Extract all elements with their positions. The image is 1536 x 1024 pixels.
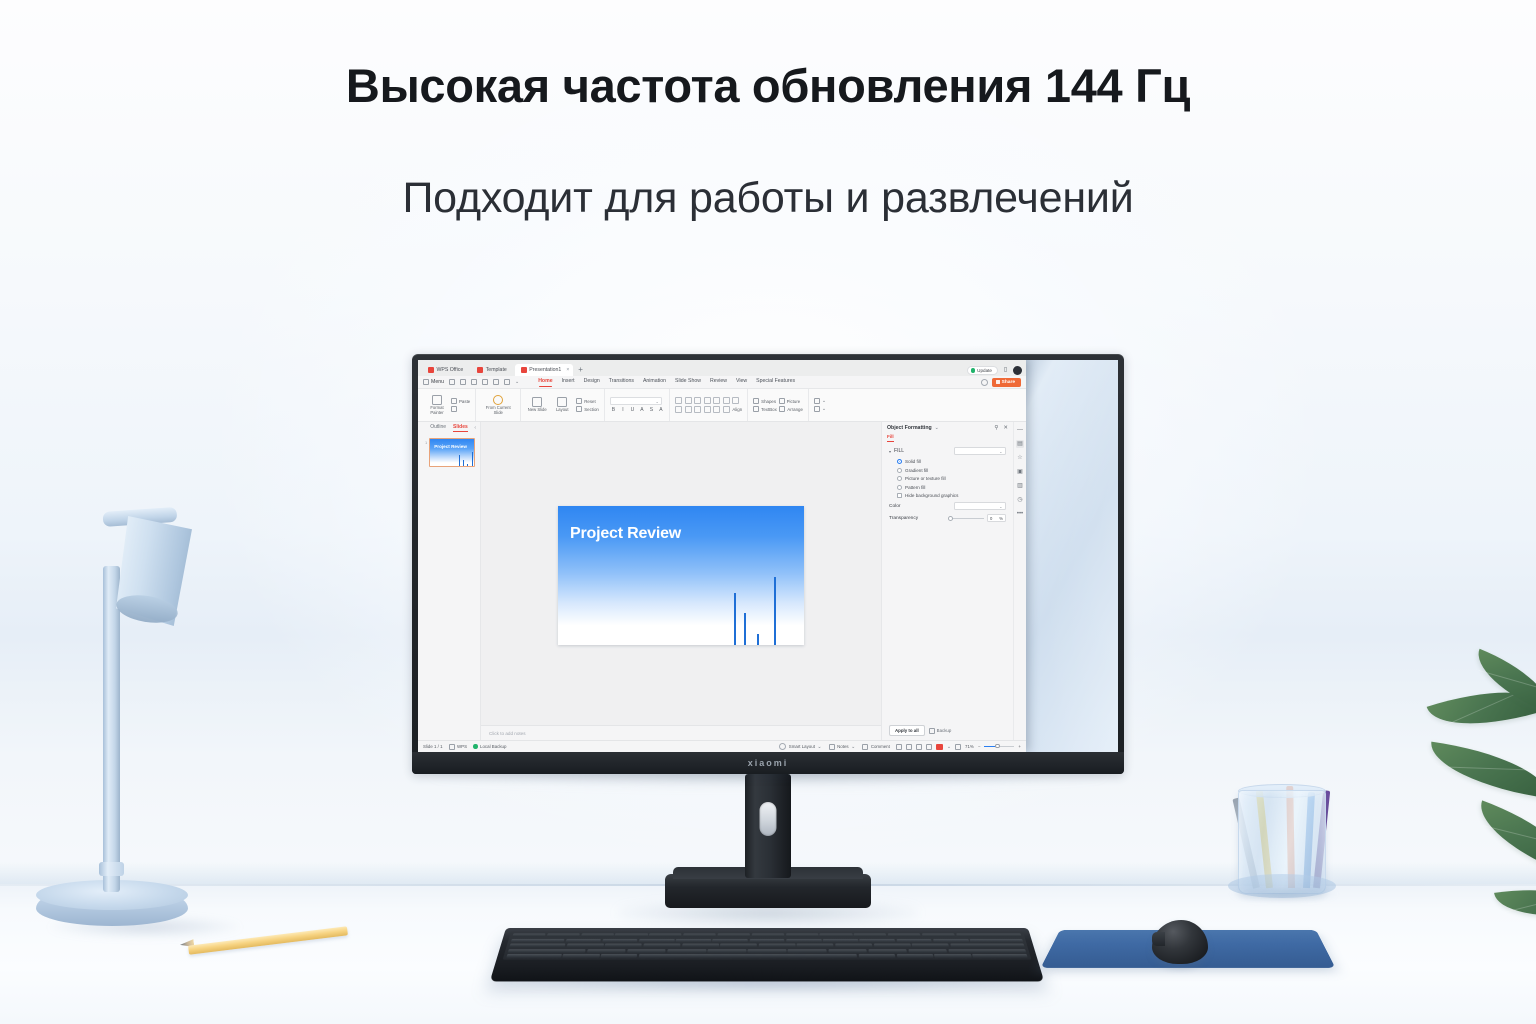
shape-outline-button[interactable]: ⌄ — [814, 406, 826, 412]
align-text-icon[interactable] — [713, 406, 720, 413]
radio-icon — [897, 468, 902, 473]
key — [788, 949, 827, 953]
keyboard-row — [506, 954, 1027, 958]
fillline-controls: ⌄ ⌄ — [814, 398, 826, 412]
key — [922, 933, 955, 937]
monitor-stand-neck — [745, 774, 791, 878]
panel-subtab-fill[interactable]: Fill — [887, 434, 894, 442]
notes-pane[interactable]: Click to add notes — [481, 725, 881, 740]
shape-fill-button[interactable]: ⌄ — [814, 398, 826, 404]
play-slide-icon — [493, 395, 503, 405]
fill-preset-select[interactable]: ⌄ — [954, 447, 1006, 455]
chevron-down-icon[interactable]: ⌄ — [935, 425, 939, 431]
checkbox-icon — [897, 493, 902, 498]
wps-status[interactable]: WPS — [449, 744, 468, 750]
tabstrip-right-controls: Update ▯ — [967, 366, 1022, 376]
drawing-controls: Shapes Picture TextBox — [753, 398, 803, 412]
align-button[interactable]: Align — [732, 407, 742, 412]
ribbon-tab-list: Home Insert Design Transitions Animation… — [538, 378, 795, 386]
thumb-bar-3 — [467, 464, 468, 466]
ribbon-tab-animation[interactable]: Animation — [643, 378, 666, 386]
panel-title: Object Formatting — [887, 425, 932, 431]
key — [509, 944, 565, 948]
color-select[interactable]: ⌄ — [954, 502, 1006, 510]
paste-button[interactable]: Paste — [451, 398, 470, 404]
option-gradient-fill[interactable]: Gradient fill — [897, 468, 1006, 473]
paragraph-controls: Align — [675, 397, 742, 413]
key — [888, 933, 921, 937]
textbox-label: TextBox — [761, 407, 777, 412]
help-icon[interactable] — [493, 379, 499, 385]
keyboard-row — [509, 944, 1024, 948]
slide-title-text[interactable]: Project Review — [570, 525, 681, 543]
transparency-stepper[interactable]: 0 % — [987, 514, 1006, 522]
numbering-icon[interactable] — [685, 397, 692, 404]
font-controls: ⌄ B I U A S A — [610, 397, 665, 413]
key — [547, 933, 580, 937]
panel-subtab-row: Fill — [882, 434, 1013, 442]
key — [506, 954, 562, 958]
key — [627, 949, 666, 953]
monitor-chin: xiaomi — [412, 752, 1124, 774]
slide-canvas-panel: Project Review Click to add notes — [481, 422, 881, 740]
chevron-down-icon: ⌄ — [851, 744, 855, 750]
print-icon[interactable] — [460, 379, 466, 385]
key — [912, 944, 949, 948]
status-center-tools: Smart Layout ⌄ Notes ⌄ Comment — [779, 743, 890, 750]
ribbon-tab-insert[interactable]: Insert — [562, 378, 575, 386]
section-button[interactable]: Section — [576, 406, 599, 412]
key — [676, 938, 711, 942]
slide-bar-4 — [774, 577, 776, 645]
key — [587, 949, 626, 953]
key — [643, 944, 680, 948]
transparency-label: Transparency — [889, 516, 918, 521]
shapes-button[interactable]: Shapes — [753, 398, 776, 404]
key — [563, 954, 600, 958]
menu-button[interactable]: Menu — [423, 379, 444, 385]
menubar-right-controls: Share — [981, 378, 1021, 387]
tab-label: Template — [486, 367, 507, 373]
option-label: Picture or texture fill — [905, 476, 946, 481]
wps-office-window: WPS Office Template Presentation1 + — [418, 360, 1026, 752]
hamburger-icon — [423, 379, 429, 385]
tab-slides[interactable]: Slides — [453, 424, 468, 432]
arrange-label: Arrange — [787, 407, 803, 412]
option-hide-background-graphics[interactable]: Hide background graphics — [897, 493, 1006, 498]
format-painter-label: Format Painter — [426, 406, 448, 416]
search-icon[interactable] — [981, 379, 988, 386]
from-current-slide-label: From Current Slide — [481, 406, 515, 416]
smart-layout-label: Smart Layout — [789, 744, 815, 749]
radio-icon — [897, 476, 902, 481]
local-backup-status[interactable]: Local Backup — [473, 744, 506, 749]
update-status-icon — [971, 368, 976, 373]
key — [868, 949, 907, 953]
new-tab-button[interactable]: + — [575, 365, 586, 376]
slide-design-icon[interactable]: ▤ — [1016, 440, 1024, 448]
zoom-out-button[interactable]: − — [978, 744, 981, 749]
stand-cable-hole — [760, 802, 777, 836]
notes-button[interactable]: Notes ⌄ — [829, 744, 856, 750]
new-slide-button[interactable]: New Slide — [526, 397, 548, 413]
status-bar: Slide 1 / 1 WPS Local Backup Smart Layou… — [418, 740, 1026, 752]
thumb-bar-4 — [472, 452, 473, 466]
panel-header: Object Formatting ⌄ ⚲ ✕ — [882, 422, 1013, 434]
underline-button[interactable]: U — [629, 407, 636, 413]
ribbon-tab-review[interactable]: Review — [710, 378, 727, 386]
ribbon-group-clipboard: Format Painter Paste — [421, 389, 475, 421]
ribbon-group-slideshow: From Current Slide — [475, 389, 520, 421]
key — [828, 949, 867, 953]
key — [950, 944, 1024, 948]
italic-button[interactable]: I — [619, 407, 626, 413]
quick-access-icon[interactable] — [504, 379, 510, 385]
keyboard-row — [511, 938, 1023, 942]
backup-button[interactable]: Backup — [929, 728, 952, 734]
notes-placeholder: Click to add notes — [489, 731, 526, 736]
update-label: Update — [977, 368, 992, 373]
start-slideshow-icon[interactable] — [936, 744, 943, 750]
transparency-value: 0 — [990, 516, 992, 521]
option-picture-texture-fill[interactable]: Picture or texture fill — [897, 476, 1006, 481]
option-label: Hide background graphics — [905, 493, 958, 498]
slide-counter: Slide 1 / 1 — [423, 744, 443, 749]
picture-button[interactable]: Picture — [779, 398, 801, 404]
key — [823, 938, 858, 942]
thumbnail-title: Project Review — [434, 444, 467, 449]
paragraph-row-1 — [675, 397, 742, 404]
undo-icon[interactable] — [471, 379, 477, 385]
key — [854, 933, 887, 937]
key — [896, 954, 933, 958]
ribbon-group-fillline: ⌄ ⌄ — [808, 389, 831, 421]
normal-view-icon[interactable] — [896, 744, 902, 750]
fit-to-window-icon[interactable] — [955, 744, 961, 750]
smart-layout-button[interactable]: Smart Layout ⌄ — [779, 743, 821, 750]
wps-icon — [428, 367, 434, 373]
picture-label: Picture — [787, 399, 801, 404]
key — [908, 949, 947, 953]
ribbon-tab-home[interactable]: Home — [538, 378, 552, 386]
key — [786, 938, 821, 942]
spacebar — [639, 954, 858, 958]
convert-smartart-icon[interactable] — [723, 406, 730, 413]
key — [748, 949, 787, 953]
ribbon-tab-slide-show[interactable]: Slide Show — [675, 378, 701, 386]
slide-counter-label: Slide 1 / 1 — [423, 744, 443, 749]
chevron-down-icon: ⌄ — [822, 406, 826, 412]
more-icon[interactable]: ••• — [1016, 510, 1024, 518]
key — [858, 954, 895, 958]
share-button[interactable]: Share — [992, 378, 1021, 387]
update-button[interactable]: Update — [967, 366, 998, 375]
comment-icon — [862, 744, 868, 750]
fill-section-header[interactable]: ▾ FILL ⌄ — [889, 447, 1006, 455]
paste-label: Paste — [459, 399, 470, 404]
ribbon-group-paragraph: Align — [669, 389, 747, 421]
decrease-indent-icon[interactable] — [675, 406, 682, 413]
radio-icon — [897, 485, 902, 490]
key — [752, 933, 785, 937]
slide-editor[interactable]: Project Review — [558, 506, 804, 644]
backup-status-icon — [473, 744, 478, 749]
keyboard-keys — [503, 932, 1032, 960]
key — [934, 954, 971, 958]
transparency-row: Transparency 0 % — [889, 514, 1006, 522]
slide-navigator-tabs: Outline Slides ‹ — [418, 422, 480, 434]
presentation-icon — [521, 367, 527, 373]
align-left-icon[interactable] — [694, 397, 701, 404]
ribbon-tab-design[interactable]: Design — [584, 378, 600, 386]
key — [717, 933, 750, 937]
color-label: Color — [889, 504, 900, 509]
strikethrough-button[interactable]: A — [638, 407, 645, 413]
slide-bar-3 — [757, 634, 759, 645]
reset-button[interactable]: Reset — [576, 398, 599, 404]
panel-header-actions: ⚲ ✕ — [994, 425, 1008, 431]
text-shadow-button[interactable]: S — [648, 407, 655, 413]
drawing-row-1: Shapes Picture — [753, 398, 803, 404]
monitor-base — [665, 874, 871, 908]
backup-icon — [929, 728, 935, 734]
line-spacing-icon[interactable] — [732, 397, 739, 404]
presenter-view-icon[interactable] — [926, 744, 932, 750]
redo-icon[interactable] — [482, 379, 488, 385]
slide-sorter-icon[interactable] — [906, 744, 912, 750]
layout-button[interactable]: Layout — [551, 397, 573, 413]
object-formatting-panel: Object Formatting ⌄ ⚲ ✕ Fill — [881, 422, 1013, 740]
fill-section-label: FILL — [894, 448, 904, 454]
reading-view-icon[interactable] — [916, 744, 922, 750]
columns-icon[interactable] — [694, 406, 701, 413]
key — [874, 944, 911, 948]
resource-icon[interactable]: ▣ — [1016, 468, 1024, 476]
tab-template[interactable]: Template — [471, 364, 513, 376]
key — [508, 949, 586, 953]
window-split-icon[interactable]: ▯ — [1002, 367, 1009, 374]
reset-icon — [576, 398, 582, 404]
font-name-select[interactable]: ⌄ — [610, 397, 662, 405]
key — [820, 933, 853, 937]
key — [615, 933, 648, 937]
align-label: Align — [732, 407, 742, 412]
section-icon — [576, 406, 582, 412]
option-solid-fill[interactable]: Solid fill — [897, 459, 1006, 464]
bold-button[interactable]: B — [610, 407, 617, 413]
fill-options-group: Solid fill Gradient fill Picture or text… — [889, 459, 1006, 498]
key — [956, 933, 1022, 937]
chevron-left-icon[interactable]: ‹ — [474, 425, 476, 431]
key — [749, 938, 784, 942]
history-icon[interactable]: ◷ — [1016, 496, 1024, 504]
backup-status-label: Local Backup — [480, 744, 506, 749]
key — [896, 938, 932, 942]
picture-icon — [779, 398, 785, 404]
share-icon — [996, 380, 1000, 384]
key — [683, 933, 716, 937]
option-label: Pattern fill — [905, 485, 925, 490]
slide-canvas-area[interactable]: Project Review — [481, 422, 881, 725]
zoom-slider-handle[interactable] — [995, 744, 1000, 749]
document-tab-strip: WPS Office Template Presentation1 + — [418, 360, 1026, 376]
wps-status-icon — [449, 744, 455, 750]
key — [713, 938, 748, 942]
arrange-icon — [779, 406, 785, 412]
zoom-in-button[interactable]: + — [1018, 744, 1021, 749]
tab-label: Presentation1 — [529, 367, 561, 373]
key — [511, 938, 565, 942]
menu-bar: Menu ⌄ Home Insert Design Transitions An… — [418, 376, 1026, 389]
key — [565, 938, 601, 942]
key — [667, 949, 706, 953]
layout-icon — [557, 397, 567, 407]
key — [835, 944, 872, 948]
from-current-slide-button[interactable]: From Current Slide — [481, 395, 515, 416]
notes-label: Notes — [837, 744, 848, 749]
transparency-unit: % — [999, 516, 1003, 521]
justify-icon[interactable] — [723, 397, 730, 404]
slide-bar-2 — [744, 613, 746, 645]
favorite-icon[interactable]: ☆ — [1016, 454, 1024, 462]
lamp-pole-collar — [99, 862, 124, 876]
smart-layout-icon — [779, 743, 786, 750]
cut-button[interactable] — [451, 406, 470, 412]
panel-footer: Apply to all Backup — [882, 725, 1013, 740]
thumbnail-number: 1 — [425, 438, 427, 467]
ribbon-tab-view[interactable]: View — [736, 378, 747, 386]
key — [682, 944, 719, 948]
backup-label: Backup — [937, 728, 952, 733]
key — [602, 938, 638, 942]
ribbon-tab-special-features[interactable]: Special Features — [756, 378, 795, 386]
tab-outline[interactable]: Outline — [430, 424, 446, 432]
option-pattern-fill[interactable]: Pattern fill — [897, 485, 1006, 490]
marketing-headline: Высокая частота обновления 144 Гц — [0, 58, 1536, 113]
text-direction-icon[interactable] — [704, 406, 711, 413]
chevron-down-icon[interactable]: ⌄ — [947, 744, 951, 750]
monitor-bezel: WPS Office Template Presentation1 + — [412, 354, 1124, 774]
char-spacing-button[interactable]: A — [657, 407, 664, 413]
ribbon-tab-transitions[interactable]: Transitions — [609, 378, 634, 386]
outline-pen-icon — [814, 406, 820, 412]
slide-thumbnail-1[interactable]: Project Review — [429, 438, 475, 467]
increase-indent-icon[interactable] — [685, 406, 692, 413]
key — [512, 933, 545, 937]
ribbon-group-drawing: Shapes Picture TextBox — [747, 389, 808, 421]
drawing-row-2: TextBox Arrange — [753, 406, 803, 412]
scissors-icon — [451, 406, 457, 412]
key — [860, 938, 896, 942]
key — [649, 933, 682, 937]
thumb-bar-2 — [463, 460, 464, 466]
avatar[interactable] — [1013, 366, 1022, 375]
shapes-icon — [753, 398, 759, 404]
key — [581, 933, 614, 937]
chevron-down-icon: ⌄ — [822, 398, 826, 404]
marketing-subheadline: Подходит для работы и развлечений — [0, 174, 1536, 223]
key — [972, 954, 1028, 958]
keyboard-row — [512, 933, 1021, 937]
slide-bar-1 — [734, 593, 736, 645]
monitor-screen: WPS Office Template Presentation1 + — [418, 360, 1118, 752]
key — [639, 938, 675, 942]
arrange-button[interactable]: Arrange — [779, 406, 803, 412]
new-slide-icon — [532, 397, 542, 407]
textbox-icon — [753, 406, 759, 412]
key — [720, 944, 757, 948]
status-view-controls: ⌄ 71% − + — [896, 744, 1021, 750]
ribbon-group-font: ⌄ B I U A S A — [604, 389, 670, 421]
shapes-label: Shapes — [761, 399, 776, 404]
textbox-button[interactable]: TextBox — [753, 406, 777, 412]
ribbon-toolbar: Format Painter Paste — [418, 389, 1026, 422]
slider-handle[interactable] — [948, 516, 953, 521]
minimize-icon[interactable]: — — [1016, 426, 1024, 434]
key — [797, 944, 834, 948]
chevron-down-icon[interactable]: ⌄ — [515, 379, 519, 385]
pin-icon[interactable]: ⚲ — [994, 425, 998, 431]
wps-status-label: WPS — [457, 744, 467, 749]
right-icon-rail: — ▤ ☆ ▣ ▥ ◷ ••• — [1013, 422, 1026, 740]
keyboard-row — [508, 949, 1026, 953]
font-style-row: B I U A S A — [610, 407, 665, 413]
key — [948, 949, 1026, 953]
close-icon[interactable]: ✕ — [1003, 425, 1008, 431]
bullets-icon[interactable] — [675, 397, 682, 404]
panel-body: ▾ FILL ⌄ Solid fill — [882, 442, 1013, 522]
key — [759, 944, 796, 948]
format-painter-icon — [432, 395, 442, 405]
thumb-bar-1 — [459, 455, 460, 466]
layout-label: Layout — [556, 408, 569, 413]
slide-navigator-panel: Outline Slides ‹ 1 Project Review — [418, 422, 481, 740]
cloud-icon[interactable]: ▥ — [1016, 482, 1024, 490]
align-right-icon[interactable] — [713, 397, 720, 404]
fill-bucket-icon — [814, 398, 820, 404]
align-center-icon[interactable] — [704, 397, 711, 404]
format-painter-button[interactable]: Format Painter — [426, 395, 448, 416]
slide-thumbnail-list: 1 Project Review — [418, 434, 480, 467]
menu-label: Menu — [431, 379, 444, 385]
tab-presentation1[interactable]: Presentation1 — [515, 364, 574, 376]
font-name-row: ⌄ — [610, 397, 665, 405]
key — [786, 933, 819, 937]
section-label: Section — [584, 407, 599, 412]
notes-icon — [829, 744, 835, 750]
paragraph-row-2: Align — [675, 406, 742, 413]
comment-button[interactable]: Comment — [862, 744, 890, 750]
chevron-down-icon: ▾ — [889, 449, 891, 454]
apply-to-all-button[interactable]: Apply to all — [889, 725, 925, 736]
zoom-slider[interactable] — [984, 746, 1014, 747]
keyboard[interactable] — [490, 928, 1044, 981]
transparency-slider-group: 0 % — [950, 514, 1006, 522]
tab-label: WPS Office — [437, 367, 464, 373]
save-icon[interactable] — [449, 379, 455, 385]
option-label: Gradient fill — [905, 468, 928, 473]
lamp-pole — [103, 566, 120, 892]
tab-wps-office[interactable]: WPS Office — [422, 364, 469, 376]
reset-label: Reset — [584, 399, 595, 404]
radio-icon — [897, 459, 902, 464]
cup-shadow — [1232, 886, 1336, 902]
app-body: Outline Slides ‹ 1 Project Review — [418, 422, 1026, 740]
transparency-slider[interactable] — [950, 518, 984, 519]
key — [970, 938, 1024, 942]
share-label: Share — [1002, 380, 1015, 385]
option-label: Solid fill — [905, 459, 921, 464]
